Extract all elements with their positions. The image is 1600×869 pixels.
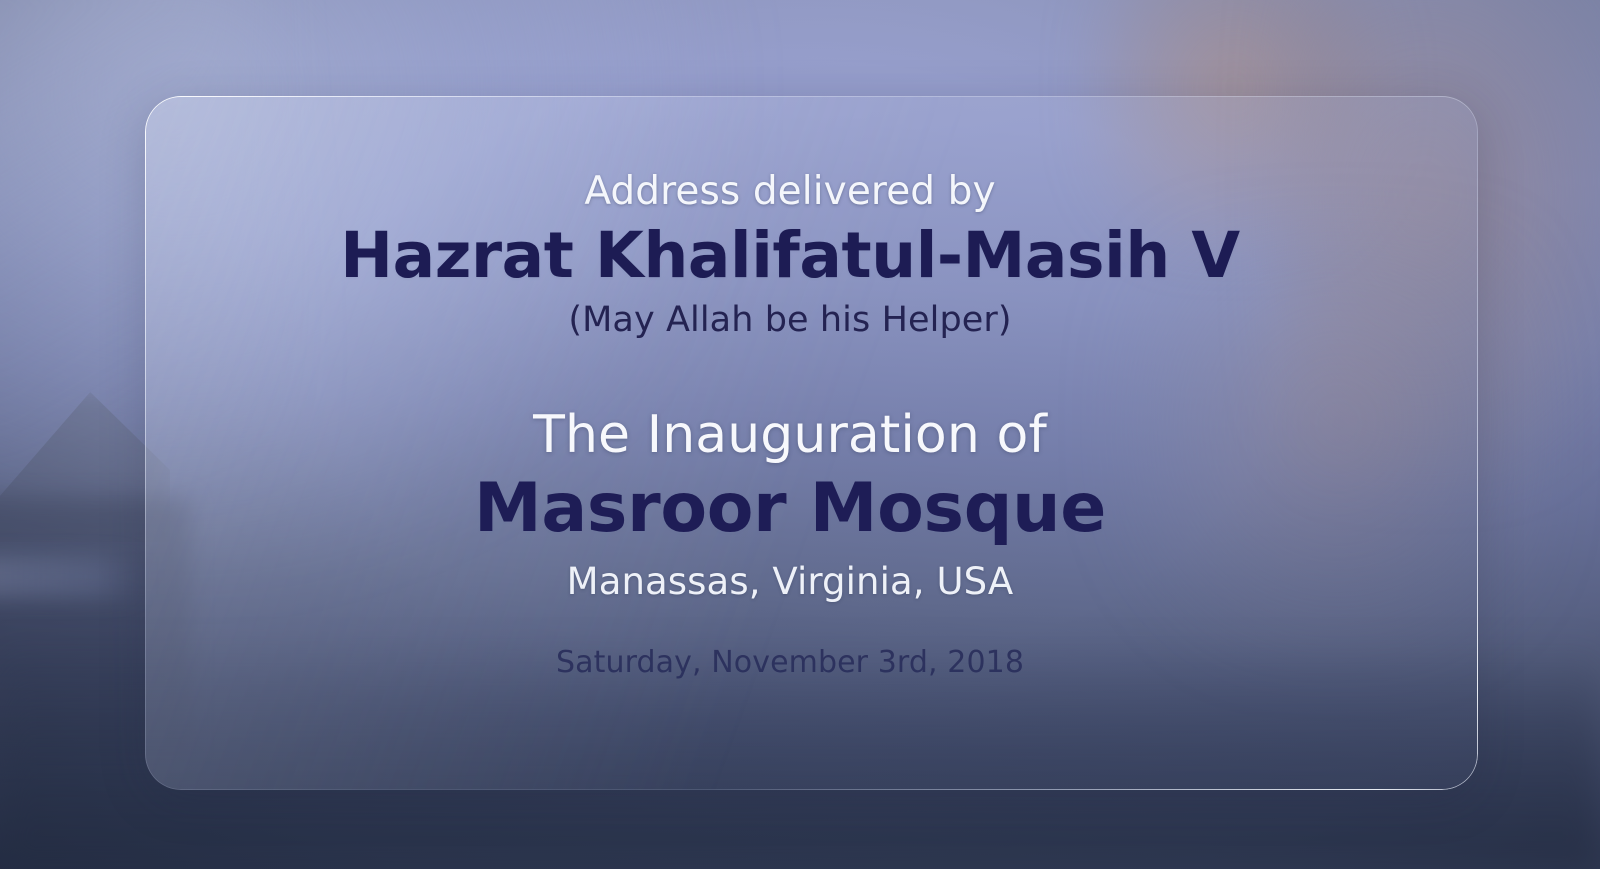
section-spacer [145,340,1435,406]
event-prefix: The Inauguration of [145,406,1435,464]
title-card-content: Address delivered by Hazrat Khalifatul-M… [145,96,1435,680]
speaker-name: Hazrat Khalifatul-Masih V [145,221,1435,292]
event-date: Saturday, November 3rd, 2018 [145,646,1435,680]
title-slide: Address delivered by Hazrat Khalifatul-M… [0,0,1600,869]
venue-name: Masroor Mosque [145,471,1435,547]
speaker-honorific: (May Allah be his Helper) [145,301,1435,340]
event-location: Manassas, Virginia, USA [145,561,1435,602]
title-card-panel: Address delivered by Hazrat Khalifatul-M… [145,96,1478,790]
address-delivered-by-label: Address delivered by [145,170,1435,214]
